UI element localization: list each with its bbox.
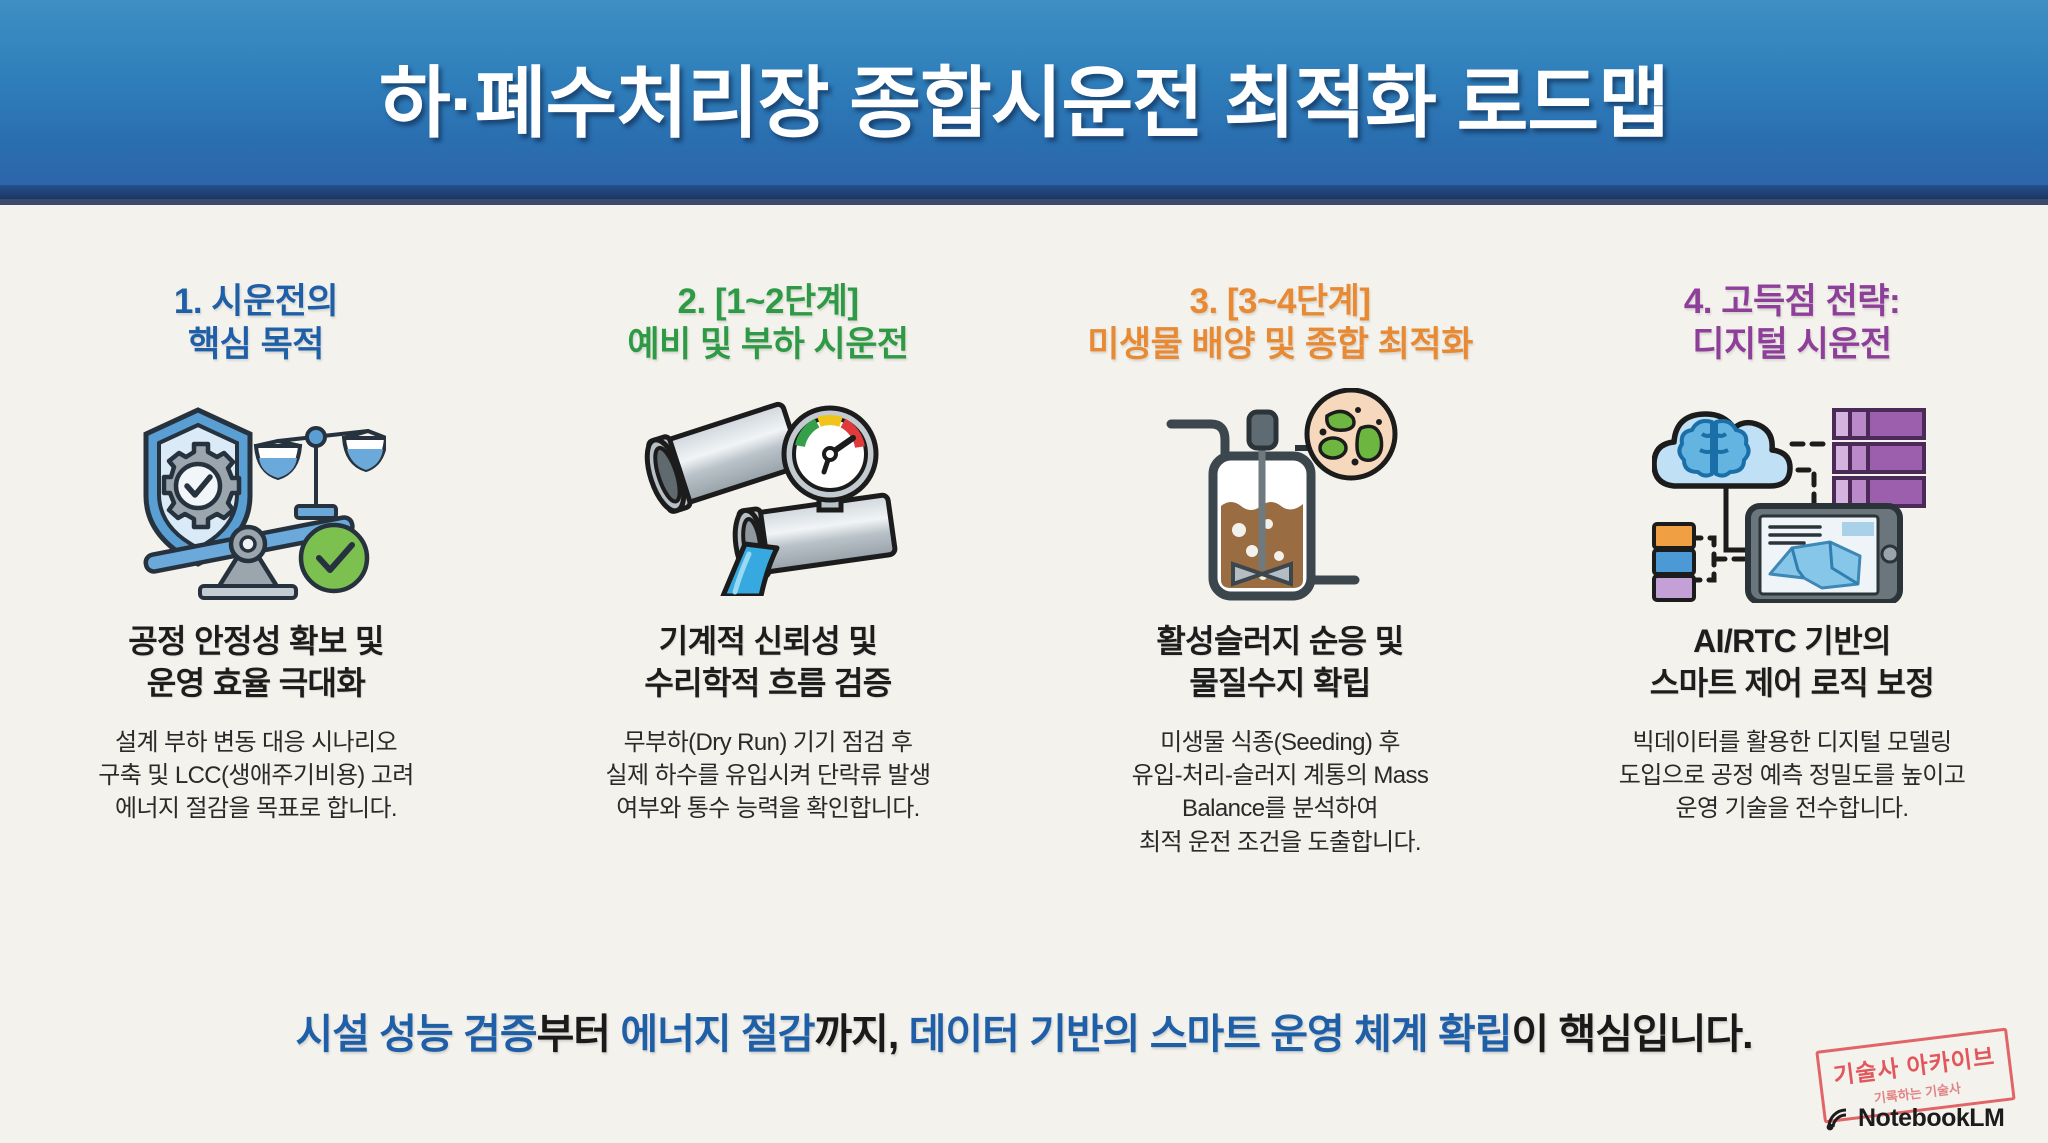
column-1: 1. 시운전의 핵심 목적 [0,205,512,985]
infographic-poster: 하·폐수처리장 종합시운전 최적화 로드맵 1. 시운전의 핵심 목적 [0,0,2048,1143]
column-2-desc-line2: 실제 하수를 유입시켜 단락류 발생 [606,759,931,792]
cloud-brain-tablet-icon [1558,378,2026,613]
column-4-desc-line2: 도입으로 공정 예측 정밀도를 높이고 [1619,759,1965,792]
column-4-subtitle-line1: AI/RTC 기반의 [1693,623,1891,659]
bioreactor-petri-dish-icon [1046,378,1514,613]
column-3-desc-line1: 미생물 식종(Seeding) 후 [1132,726,1429,759]
column-2-desc-line3: 여부와 통수 능력을 확인합니다. [606,792,931,825]
column-2-subtitle-line1: 기계적 신뢰성 및 [659,623,877,659]
column-1-subtitle-line2: 운영 효율 극대화 [128,663,384,705]
summary-segment-5: 데이터 기반의 스마트 운영 체계 확립 [909,1011,1512,1057]
summary-segment-3: 에너지 절감 [620,1011,814,1057]
column-4-desc-line1: 빅데이터를 활용한 디지털 모델링 [1619,726,1965,759]
column-4-desc-line3: 운영 기술을 전수합니다. [1619,792,1965,825]
notebooklm-logo: NotebookLM [1825,1104,2004,1133]
column-4-heading-line1: 4. 고득점 전략: [1684,282,1900,321]
pipe-pressure-gauge-icon [534,378,1002,613]
column-1-heading: 1. 시운전의 핵심 목적 [174,280,338,372]
notebooklm-mark-icon [1825,1106,1851,1132]
watermark: 기술사 아카이브 기록하는 기술사 NotebookLM [1811,1039,2026,1135]
column-3-desc-line4: 최적 운전 조건을 도출합니다. [1132,826,1429,859]
column-2-subtitle: 기계적 신뢰성 및 수리학적 흐름 검증 [644,621,891,704]
column-1-desc-line2: 구축 및 LCC(생애주기비용) 고려 [98,759,413,792]
column-1-heading-line1: 1. 시운전의 [174,282,338,321]
column-1-heading-line2: 핵심 목적 [174,323,338,366]
column-4-subtitle-line2: 스마트 제어 로직 보정 [1650,663,1934,705]
column-4-subtitle: AI/RTC 기반의 스마트 제어 로직 보정 [1650,621,1934,704]
column-3-heading-line1: 3. [3~4단계] [1189,282,1370,321]
column-3-desc-line3: Balance를 분석하여 [1132,792,1429,825]
column-3-subtitle: 활성슬러지 순응 및 물질수지 확립 [1156,621,1403,704]
shield-gear-balance-icon [22,378,490,613]
summary-segment-2: 부터 [537,1011,621,1057]
column-1-desc-line3: 에너지 절감을 목표로 합니다. [98,792,413,825]
column-1-desc-line1: 설계 부하 변동 대응 시나리오 [98,726,413,759]
column-2-heading: 2. [1~2단계] 예비 및 부하 시운전 [627,280,908,372]
column-3-desc-line2: 유입-처리-슬러지 계통의 Mass [1132,759,1429,792]
column-3-description: 미생물 식종(Seeding) 후 유입-처리-슬러지 계통의 Mass Bal… [1132,726,1429,858]
column-3: 3. [3~4단계] 미생물 배양 및 종합 최적화 [1024,205,1536,985]
column-3-subtitle-line1: 활성슬러지 순응 및 [1156,623,1403,659]
column-4: 4. 고득점 전략: 디지털 시운전 [1536,205,2048,985]
summary-segment-6: 이 핵심입니다. [1511,1011,1752,1057]
column-2-desc-line1: 무부하(Dry Run) 기기 점검 후 [606,726,931,759]
column-3-subtitle-line2: 물질수지 확립 [1156,663,1403,705]
column-1-description: 설계 부하 변동 대응 시나리오 구축 및 LCC(생애주기비용) 고려 에너지… [98,726,413,825]
header-banner: 하·폐수처리장 종합시운전 최적화 로드맵 [0,0,2048,205]
column-1-subtitle: 공정 안정성 확보 및 운영 효율 극대화 [128,621,384,704]
column-3-heading: 3. [3~4단계] 미생물 배양 및 종합 최적화 [1087,280,1473,372]
column-2-heading-line2: 예비 및 부하 시운전 [627,323,908,366]
content-columns: 1. 시운전의 핵심 목적 [0,205,2048,985]
summary-segment-4: 까지, [814,1011,908,1057]
column-2-description: 무부하(Dry Run) 기기 점검 후 실제 하수를 유입시켜 단락류 발생 … [606,726,931,825]
notebooklm-label: NotebookLM [1858,1104,2004,1133]
column-2: 2. [1~2단계] 예비 및 부하 시운전 [512,205,1024,985]
column-4-heading: 4. 고득점 전략: 디지털 시운전 [1684,280,1900,372]
column-4-heading-line2: 디지털 시운전 [1684,323,1900,366]
column-2-heading-line1: 2. [1~2단계] [678,282,859,321]
column-4-description: 빅데이터를 활용한 디지털 모델링 도입으로 공정 예측 정밀도를 높이고 운영… [1619,726,1965,825]
summary-segment-1: 시설 성능 검증 [295,1011,536,1057]
column-1-subtitle-line1: 공정 안정성 확보 및 [128,623,384,659]
page-title: 하·폐수처리장 종합시운전 최적화 로드맵 [379,41,1669,159]
column-3-heading-line2: 미생물 배양 및 종합 최적화 [1087,323,1473,366]
column-2-subtitle-line2: 수리학적 흐름 검증 [644,663,891,705]
summary-line: 시설 성능 검증부터 에너지 절감까지, 데이터 기반의 스마트 운영 체계 확… [0,1000,2048,1060]
